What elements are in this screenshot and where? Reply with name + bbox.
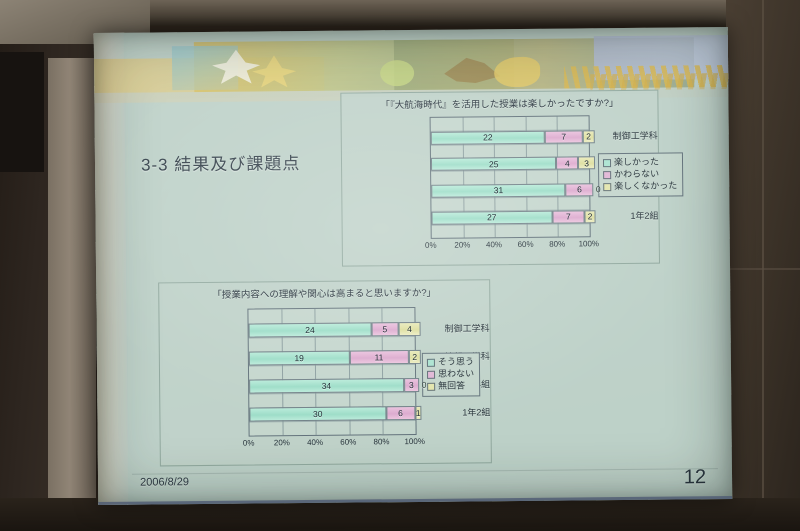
bar-value-label: 22 (483, 132, 493, 142)
bar-value-label: 34 (322, 381, 332, 391)
plot-area: 2272254331602772 (430, 115, 591, 239)
legend-swatch-icon (427, 359, 435, 367)
legend-label: 無回答 (438, 380, 465, 392)
axis-tick-label: 60% (518, 240, 534, 249)
bar-segment: 11 (349, 350, 408, 365)
legend-item[interactable]: 楽しくなかった (603, 180, 677, 193)
axis-tick-label: 20% (454, 240, 470, 249)
bar-value-label: 27 (487, 212, 497, 222)
bar-segment: 5 (371, 322, 398, 336)
bar-value-label: 3 (584, 158, 589, 168)
bar-value-label: 4 (407, 324, 412, 334)
chart-understanding-panel: 「授業内容への理解や関心は高まると思いますか?」2454191123430306… (158, 279, 492, 466)
slide-page-number: 12 (684, 466, 706, 489)
chart-legend: 楽しかったかわらない楽しくなかった (598, 152, 683, 196)
axis-tick-label: 0% (425, 241, 437, 250)
axis-tick-label: 60% (340, 438, 356, 447)
wall-shadow-box (0, 52, 44, 172)
bar-value-label: 25 (489, 159, 499, 169)
bar-value-label: 6 (398, 408, 403, 418)
bar-segment: 22 (431, 130, 545, 144)
bar-value-label: 3 (409, 380, 414, 390)
axis-tick-label: 0% (243, 439, 255, 448)
bar-value-label: 19 (294, 353, 304, 363)
chart-title: 「『大航海時代』を活用した授業は楽しかったですか?」 (341, 95, 657, 112)
axis-tick-label: 100% (579, 239, 600, 248)
bar-segment: 19 (249, 351, 350, 366)
legend-label: 楽しかった (614, 157, 659, 169)
bar-segment: 34 (249, 378, 404, 393)
projection-screen: 3-3 結果及び課題点 「『大航海時代』を活用した授業は楽しかったですか?」22… (94, 27, 733, 505)
legend-swatch-icon (603, 171, 611, 179)
legend-item[interactable]: そう思う (427, 356, 474, 368)
axis-tick-label: 100% (404, 437, 425, 446)
bar-row: 2272 (431, 130, 589, 145)
bar-value-label: 1 (416, 408, 421, 418)
legend-swatch-icon (427, 371, 435, 379)
slide-date: 2006/8/29 (140, 476, 189, 488)
axis-tick-label: 20% (274, 438, 290, 447)
category-label: 制御工学科 (408, 321, 490, 335)
bar-segment: 31 (431, 183, 565, 197)
slide-left-margin (94, 33, 129, 505)
bar-row: 2454 (249, 322, 415, 338)
legend-item[interactable]: かわらない (603, 168, 677, 181)
bar-value-label: 7 (561, 132, 566, 142)
category-label: 1年2組 (408, 405, 490, 419)
axis-tick-label: 80% (549, 240, 565, 249)
bar-segment: 24 (249, 322, 372, 337)
bar-value-label: 2 (586, 131, 591, 141)
legend-swatch-icon (427, 382, 435, 390)
legend-label: かわらない (614, 169, 659, 181)
legend-label: そう思う (438, 356, 474, 368)
chart-legend: そう思う思わない無回答 (422, 352, 480, 396)
bar-value-label: 4 (565, 158, 570, 168)
chart-title: 「授業内容への理解や関心は高まると思いますか?」 (159, 284, 489, 301)
bar-value-label: 5 (382, 324, 387, 334)
bar-row: 3160 (431, 183, 589, 198)
bar-segment: 27 (431, 210, 552, 224)
axis-tick-label: 40% (307, 438, 323, 447)
wall-seam-horizontal (726, 268, 800, 270)
projected-slide-photo: 3-3 結果及び課題点 「『大航海時代』を活用した授業は楽しかったですか?」22… (0, 0, 800, 531)
footer-divider (132, 468, 718, 475)
bar-row: 19112 (249, 350, 415, 366)
plot-area: 24541911234303061 (247, 307, 416, 437)
axis-tick-label: 40% (486, 240, 502, 249)
legend-label: 楽しくなかった (614, 180, 677, 192)
bar-value-label: 0 (596, 185, 601, 195)
bar-value-label: 11 (374, 352, 383, 362)
chart-enjoyment-panel: 「『大航海時代』を活用した授業は楽しかったですか?」22722543316027… (340, 90, 660, 267)
bar-row: 2543 (431, 156, 589, 171)
bar-segment: 25 (431, 157, 557, 171)
legend-item[interactable]: 無回答 (427, 380, 474, 392)
gourd-icon (494, 57, 540, 87)
legend-label: 思わない (438, 368, 474, 380)
bar-row: 3061 (249, 406, 415, 422)
wall-seam-vertical (762, 0, 764, 531)
bar-value-label: 2 (588, 211, 593, 221)
bar-value-label: 31 (494, 185, 504, 195)
bar-value-label: 7 (566, 211, 571, 221)
page-title: 3-3 結果及び課題点 (141, 149, 301, 176)
bar-value-label: 6 (577, 185, 582, 195)
bar-row: 3430 (249, 378, 415, 394)
legend-swatch-icon (603, 159, 611, 167)
bar-value-label: 2 (412, 352, 417, 362)
bar-value-label: 30 (313, 409, 323, 419)
bar-value-label: 24 (305, 325, 315, 335)
wall-pillar (48, 58, 96, 531)
bar-value-label: 0 (422, 380, 427, 390)
legend-item[interactable]: 思わない (427, 368, 474, 380)
legend-swatch-icon (603, 183, 611, 191)
legend-item[interactable]: 楽しかった (603, 156, 677, 169)
axis-tick-label: 80% (373, 437, 389, 446)
bar-row: 2772 (431, 210, 589, 225)
bar-segment: 30 (249, 406, 386, 421)
